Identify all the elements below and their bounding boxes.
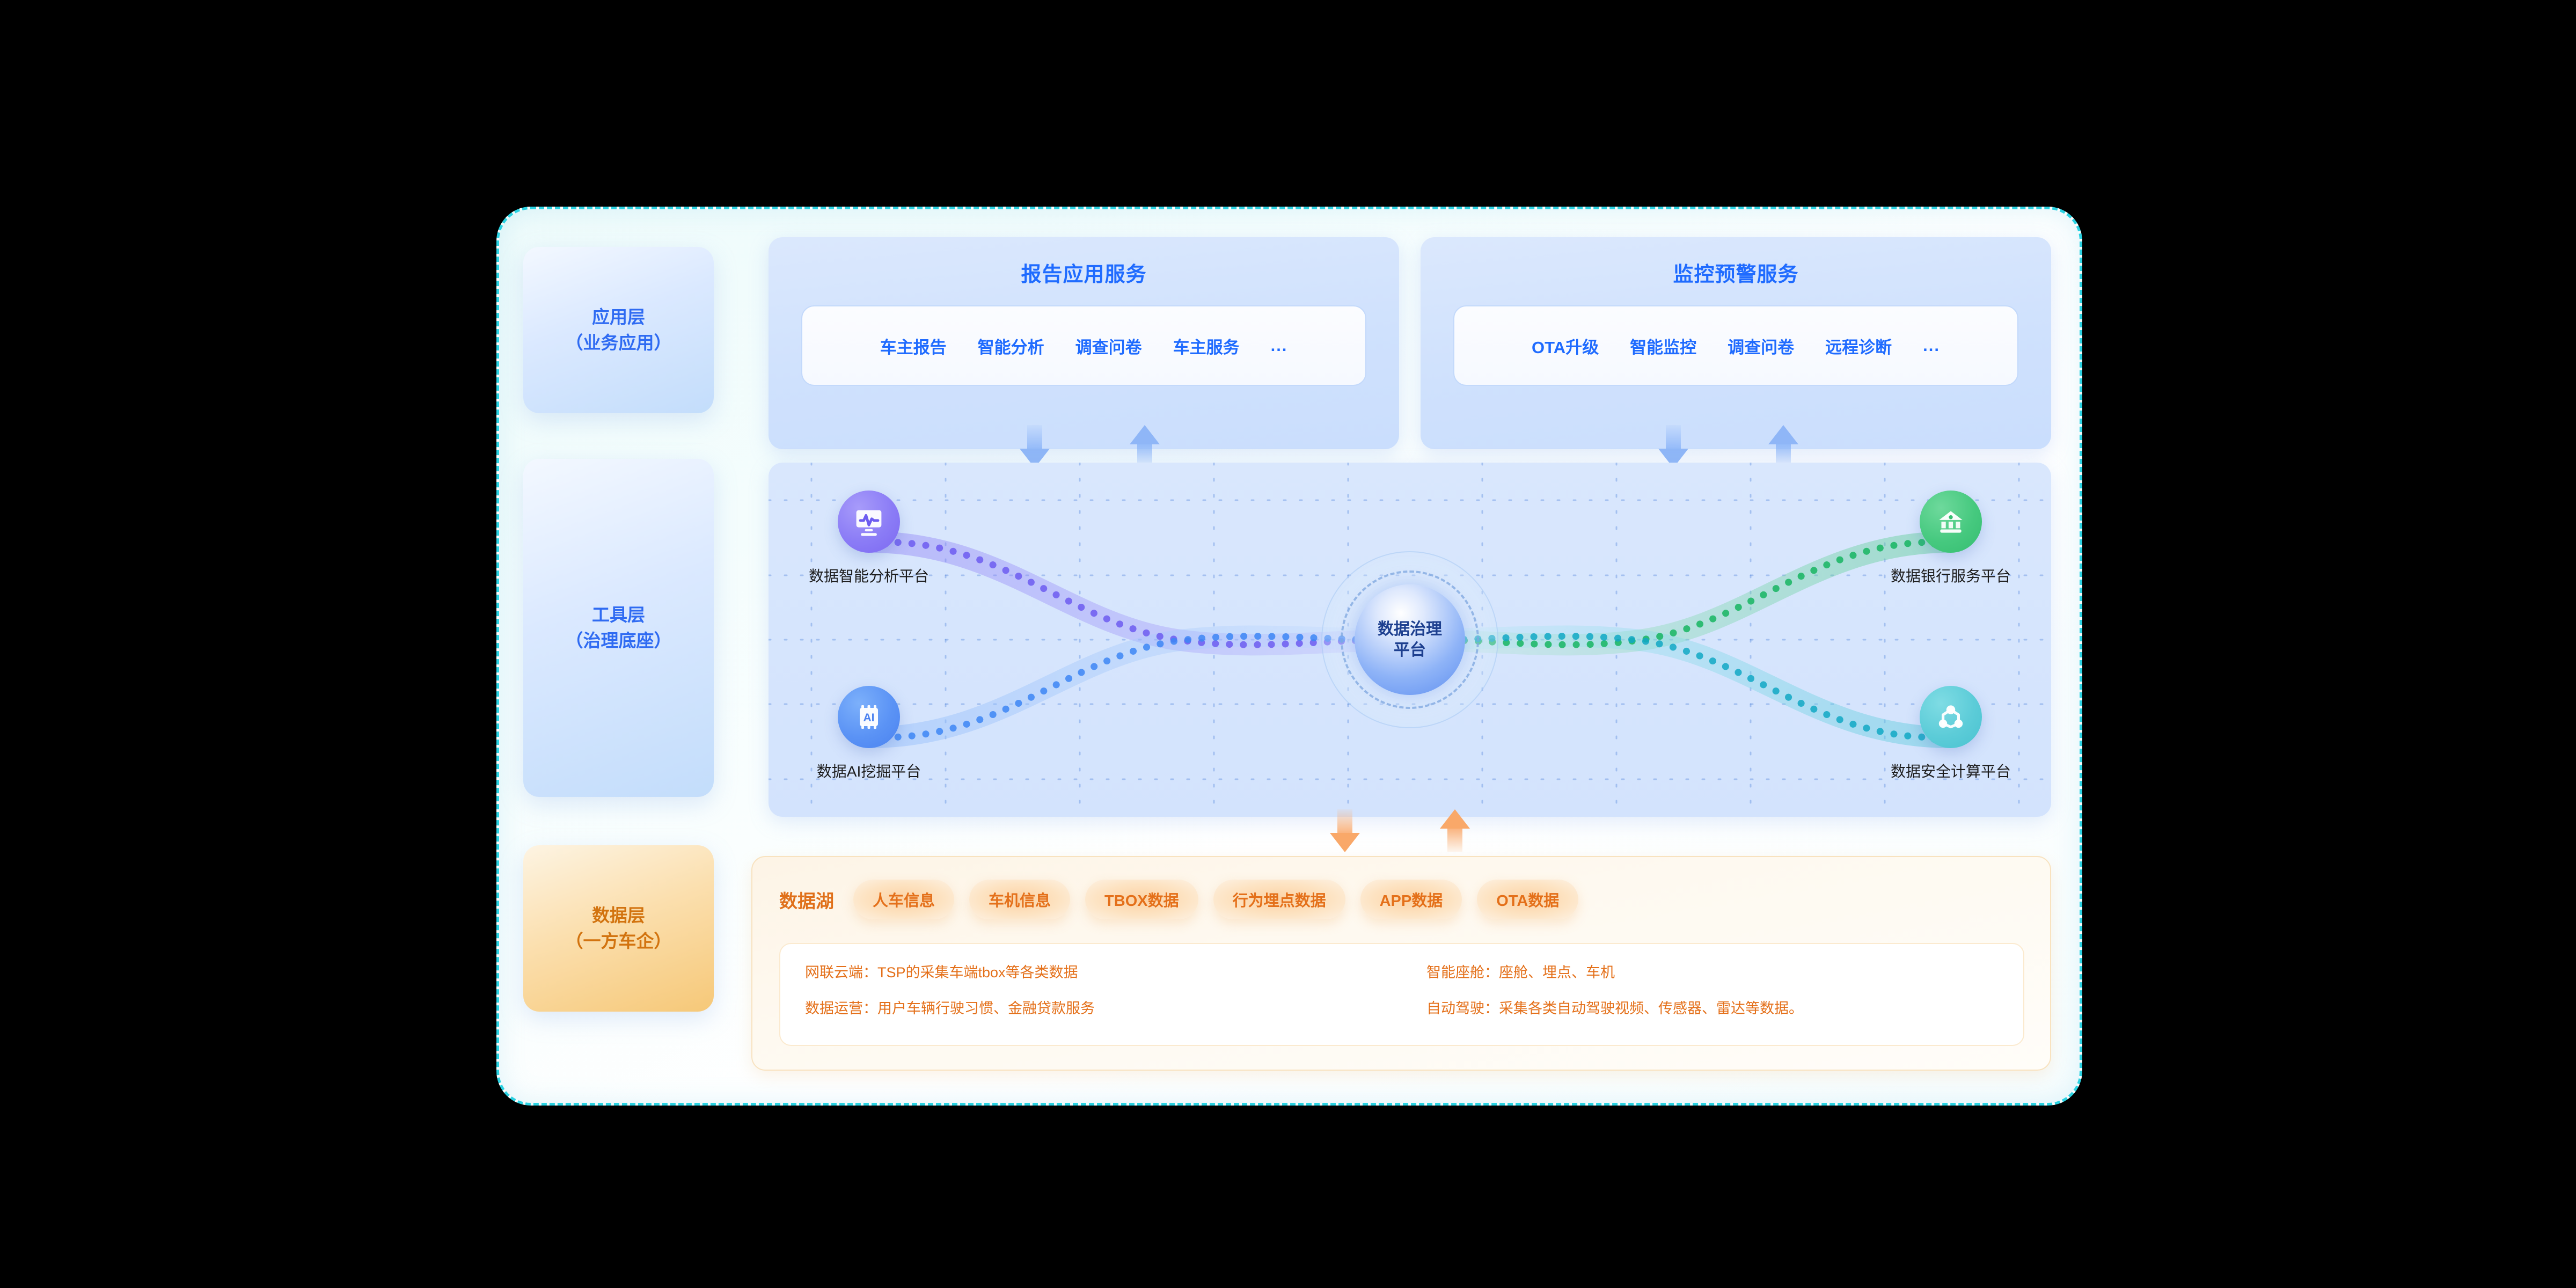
chip-survey-monitor[interactable]: 调查问卷 <box>1728 334 1794 358</box>
node-data-bank-label: 数据银行服务平台 <box>1891 565 2011 586</box>
layer-badge-tool[interactable]: 工具层 （治理底座） <box>523 459 714 797</box>
diagram-canvas: 应用层 （业务应用） 工具层 （治理底座） 数据层 （一方车企） 报告应用服务 … <box>0 0 2576 1288</box>
tool-layer-panel: 数据智能分析平台 AI 数据AI挖掘平台 <box>769 463 2051 817</box>
bank-building-icon <box>1920 491 1982 553</box>
service-card-report-chipbar: 车主报告 智能分析 调查问卷 车主服务 ... <box>801 305 1366 386</box>
data-layer-panel: 数据湖 人车信息 车机信息 TBOX数据 行为埋点数据 APP数据 OTA数据 … <box>751 856 2051 1071</box>
tag-behavior-tracking-data[interactable]: 行为埋点数据 <box>1213 880 1345 919</box>
tag-people-vehicle-info[interactable]: 人车信息 <box>853 880 954 919</box>
node-ai-mining-platform[interactable]: AI 数据AI挖掘平台 <box>807 686 931 781</box>
node-ai-mining-label: 数据AI挖掘平台 <box>817 760 921 781</box>
hub-core: 数据治理 平台 <box>1355 584 1465 695</box>
node-secure-compute-platform[interactable]: 数据安全计算平台 <box>1889 686 2012 781</box>
desc-smart-cockpit: 智能座舱：座舱、埋点、车机 <box>1426 965 2023 980</box>
node-secure-compute-label: 数据安全计算平台 <box>1891 760 2011 781</box>
layer-application-subtitle: （业务应用） <box>566 330 672 356</box>
description-column-right: 智能座舱：座舱、埋点、车机 自动驾驶：采集各类自动驾驶视频、传感器、雷达等数据。 <box>1402 944 2023 1045</box>
tag-vehicle-machine-info[interactable]: 车机信息 <box>969 880 1070 919</box>
chip-survey[interactable]: 调查问卷 <box>1075 334 1142 358</box>
hub-title-line1: 数据治理 <box>1378 619 1442 640</box>
desc-autonomous-driving: 自动驾驶：采集各类自动驾驶视频、传感器、雷达等数据。 <box>1426 1001 2023 1016</box>
arrow-up-report-icon <box>1130 425 1160 468</box>
arrow-down-report-icon <box>1020 425 1050 468</box>
network-nodes-icon <box>1920 686 1982 748</box>
monitor-waveform-icon <box>838 491 900 553</box>
application-layer-row: 报告应用服务 车主报告 智能分析 调查问卷 车主服务 ... 监控预警服务 OT… <box>769 237 2051 449</box>
layer-rail: 应用层 （业务应用） 工具层 （治理底座） 数据层 （一方车企） <box>523 247 714 1073</box>
ai-chip-icon: AI <box>838 686 900 748</box>
layer-tool-title: 工具层 <box>592 602 645 628</box>
svg-text:AI: AI <box>863 712 875 724</box>
chip-remote-diagnosis[interactable]: 远程诊断 <box>1825 334 1892 358</box>
tag-tbox-data[interactable]: TBOX数据 <box>1085 880 1198 919</box>
node-data-analysis-label: 数据智能分析平台 <box>809 565 929 586</box>
service-card-monitor[interactable]: 监控预警服务 OTA升级 智能监控 调查问卷 远程诊断 ... <box>1421 237 2051 449</box>
arrow-down-monitor-icon <box>1658 425 1688 468</box>
arrow-up-data-icon <box>1440 809 1470 852</box>
chip-ota-upgrade[interactable]: OTA升级 <box>1532 334 1599 358</box>
service-card-monitor-chipbar: OTA升级 智能监控 调查问卷 远程诊断 ... <box>1453 305 2018 386</box>
chip-owner-service[interactable]: 车主服务 <box>1173 334 1240 358</box>
chip-smart-analysis[interactable]: 智能分析 <box>978 334 1044 358</box>
chip-smart-monitor[interactable]: 智能监控 <box>1630 334 1696 358</box>
node-data-analysis-platform[interactable]: 数据智能分析平台 <box>807 491 931 586</box>
layer-application-title: 应用层 <box>592 304 645 330</box>
layer-badge-application[interactable]: 应用层 （业务应用） <box>523 247 714 413</box>
tag-ota-data[interactable]: OTA数据 <box>1477 880 1578 919</box>
service-card-monitor-title: 监控预警服务 <box>1673 258 1798 287</box>
layer-badge-data[interactable]: 数据层 （一方车企） <box>523 845 714 1012</box>
chip-more-report[interactable]: ... <box>1271 336 1288 355</box>
description-column-left: 网联云端：TSP的采集车端tbox等各类数据 数据运营：用户车辆行驶习惯、金融贷… <box>780 944 1402 1045</box>
service-card-report[interactable]: 报告应用服务 车主报告 智能分析 调查问卷 车主服务 ... <box>769 237 1399 449</box>
chip-owner-report[interactable]: 车主报告 <box>880 334 947 358</box>
arrow-up-monitor-icon <box>1768 425 1798 468</box>
node-data-bank-platform[interactable]: 数据银行服务平台 <box>1889 491 2012 586</box>
layer-data-subtitle: （一方车企） <box>566 928 672 954</box>
tag-app-data[interactable]: APP数据 <box>1360 880 1462 919</box>
chip-more-monitor[interactable]: ... <box>1923 336 1940 355</box>
governance-platform-hub[interactable]: 数据治理 平台 <box>1321 551 1498 728</box>
data-source-description-box: 网联云端：TSP的采集车端tbox等各类数据 数据运营：用户车辆行驶习惯、金融贷… <box>779 943 2024 1046</box>
layer-data-title: 数据层 <box>592 903 645 928</box>
desc-data-operations: 数据运营：用户车辆行驶习惯、金融贷款服务 <box>805 1001 1402 1016</box>
hub-title-line2: 平台 <box>1394 640 1426 661</box>
arrow-down-data-icon <box>1330 809 1360 852</box>
service-card-report-title: 报告应用服务 <box>1021 258 1146 287</box>
desc-connected-cloud: 网联云端：TSP的采集车端tbox等各类数据 <box>805 965 1402 980</box>
data-lake-label: 数据湖 <box>779 887 834 913</box>
data-lake-tag-row: 数据湖 人车信息 车机信息 TBOX数据 行为埋点数据 APP数据 OTA数据 <box>779 880 1578 919</box>
layer-tool-subtitle: （治理底座） <box>566 628 672 654</box>
